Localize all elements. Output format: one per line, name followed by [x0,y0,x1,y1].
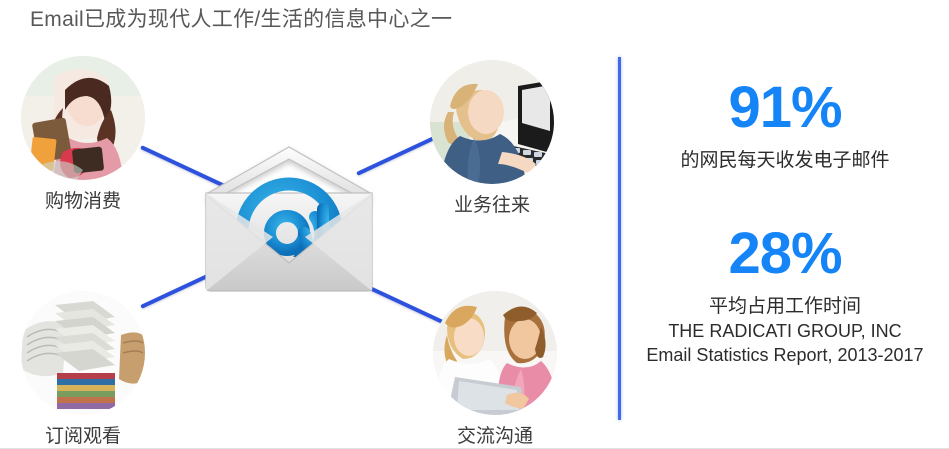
node-label-business: 业务往来 [425,190,559,217]
stat-block-secondary: 28% 平均占用工作时间 THE RADICATI GROUP, INC Ema… [630,224,940,366]
infographic-slide: Email已成为现代人工作/生活的信息中心之一 [0,0,949,449]
email-envelope-at-icon [198,145,380,295]
source-organization: THE RADICATI GROUP, INC [630,321,940,342]
diagram-node-shopping[interactable]: 购物消费 [16,56,150,213]
stat-block-primary: 91% 的网民每天收发电子邮件 [630,78,940,172]
node-label-subscribe: 订阅观看 [16,421,150,448]
woman-with-shopping-bags-photo [21,56,145,180]
node-label-communicate: 交流沟通 [428,421,562,448]
stat-caption-secondary: 平均占用工作时间 [630,291,940,318]
stat-caption-primary: 的网民每天收发电子邮件 [630,145,940,172]
vertical-divider [618,57,621,420]
diagram-node-business[interactable]: 业务往来 [425,60,559,217]
diagram-node-subscribe[interactable]: 订阅观看 [16,291,150,448]
diagram-node-communicate[interactable]: 交流沟通 [428,291,562,448]
two-people-with-laptop-photo [433,291,557,415]
page-title: Email已成为现代人工作/生活的信息中心之一 [30,3,452,33]
stat-value-primary: 91% [630,78,940,139]
stat-value-secondary: 28% [630,224,940,285]
statistics-panel: 91% 的网民每天收发电子邮件 28% 平均占用工作时间 THE RADICAT… [630,60,940,366]
node-label-shopping: 购物消费 [16,186,150,213]
source-report: Email Statistics Report, 2013-2017 [630,345,940,366]
stacked-newspapers-photo [21,291,145,415]
woman-at-computer-photo [430,60,554,184]
